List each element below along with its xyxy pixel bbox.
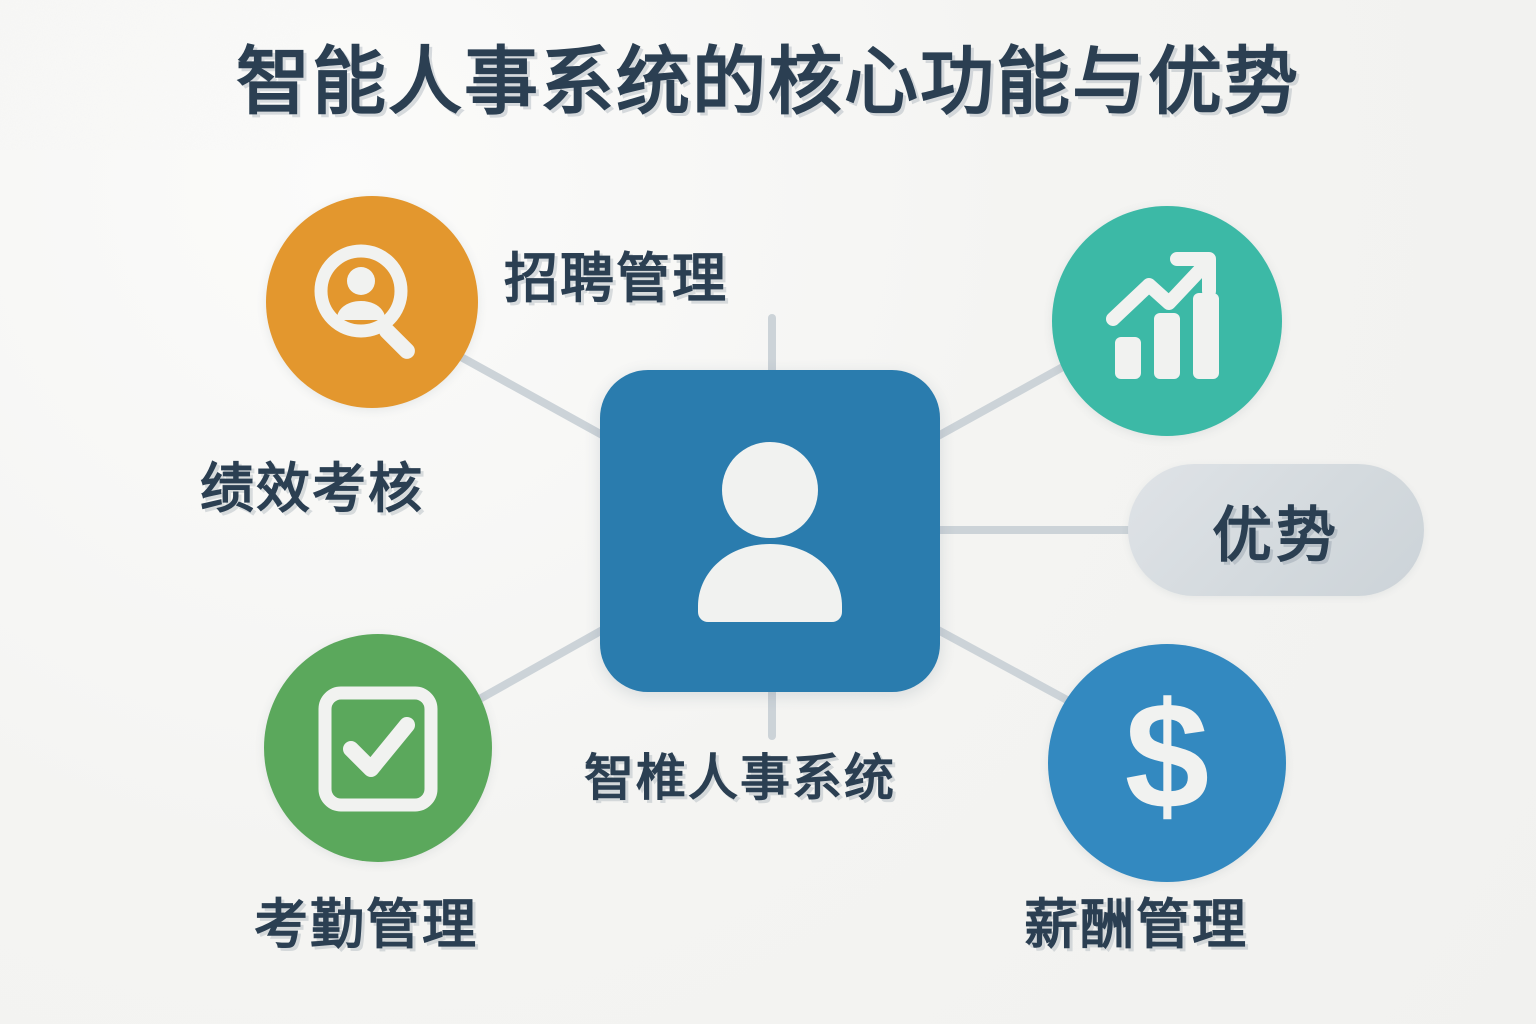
page-title: 智能人事系统的核心功能与优势 <box>0 42 1536 122</box>
node-recruit-label: 招聘管理 <box>504 234 728 313</box>
dollar-icon: $ <box>1092 688 1242 838</box>
node-salary-label: 薪酬管理 <box>1024 880 1248 959</box>
infographic-canvas: 智能人事系统的核心功能与优势 智椎人事系统 优势 招聘管理 <box>0 0 1536 1024</box>
hub-node[interactable] <box>600 370 940 692</box>
connector-hub-salary <box>938 630 1078 706</box>
connector-hub-recruit <box>452 352 604 436</box>
connector-hub-attendance <box>460 628 606 710</box>
node-attendance[interactable] <box>264 634 492 862</box>
checkbox-icon <box>311 681 445 815</box>
advantage-pill[interactable]: 优势 <box>1128 464 1424 596</box>
node-performance[interactable] <box>1052 206 1282 436</box>
node-salary[interactable]: $ <box>1048 644 1286 882</box>
advantage-label: 优势 <box>1212 487 1340 574</box>
hub-label: 智椎人事系统 <box>584 738 896 810</box>
person-search-icon <box>305 235 439 369</box>
node-recruit[interactable] <box>266 196 478 408</box>
bar-chart-trend-icon <box>1097 251 1237 391</box>
node-attendance-label: 考勤管理 <box>254 880 478 959</box>
person-icon <box>670 436 870 626</box>
node-performance-label: 绩效考核 <box>200 444 424 523</box>
svg-text:$: $ <box>1125 688 1210 838</box>
